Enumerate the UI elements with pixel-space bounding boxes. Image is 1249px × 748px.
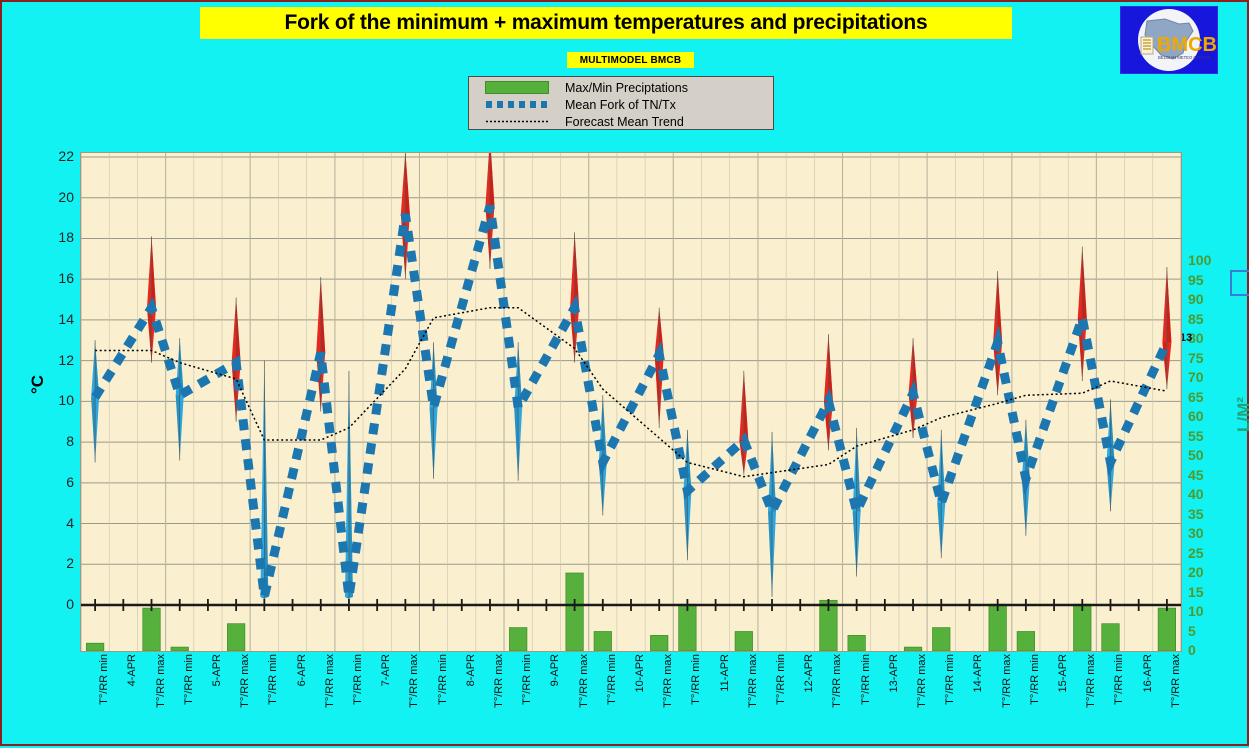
legend-key-bar-icon xyxy=(469,81,565,94)
y-axis-right-tick: 50 xyxy=(1188,447,1204,463)
y-axis-right-tick: 5 xyxy=(1188,623,1196,639)
y-axis-left-tick: 0 xyxy=(66,596,74,612)
chart-resize-handle[interactable] xyxy=(1230,270,1249,296)
x-axis-tick-label: T°/RR max xyxy=(662,654,674,708)
x-axis-day-label: 15-APR xyxy=(1057,654,1069,693)
y-axis-right-title: L/M² xyxy=(1234,397,1249,432)
x-axis-tick-label: T°/RR min xyxy=(1113,654,1125,705)
legend-item-forecast-trend[interactable]: Forecast Mean Trend xyxy=(469,113,773,130)
y-axis-right-tick: 40 xyxy=(1188,486,1204,502)
x-axis-tick-label: T°/RR max xyxy=(578,654,590,708)
x-axis-day-label: 16-APR xyxy=(1142,654,1154,693)
y-axis-right-tick: 25 xyxy=(1188,545,1204,561)
legend-label-mean-fork: Mean Fork of TN/Tx xyxy=(565,98,676,112)
bmcb-logo: BMCB BELGIAN METEO CENTER xyxy=(1120,6,1218,74)
logo-text: BMCB xyxy=(1157,34,1217,56)
x-axis-labels: T°/RR min4-APRT°/RR maxT°/RR min5-APRT°/… xyxy=(80,654,1182,748)
y-axis-right-tick: 65 xyxy=(1188,389,1204,405)
page-title-text: Fork of the minimum + maximum temperatur… xyxy=(284,11,927,35)
x-axis-tick-label: T°/RR max xyxy=(831,654,843,708)
x-axis-tick-label: T°/RR min xyxy=(860,654,872,705)
y-axis-left-tick: 16 xyxy=(58,270,74,286)
x-axis-day-label: 11-APR xyxy=(719,654,731,692)
x-axis-day-label: 13-APR xyxy=(888,654,900,693)
x-axis-tick-label: T°/RR min xyxy=(98,654,110,705)
logo-tagline: BELGIAN METEO CENTER xyxy=(1158,55,1211,60)
x-axis-day-label: 10-APR xyxy=(634,654,646,693)
x-axis-day-label: 14-APR xyxy=(972,654,984,693)
x-axis-tick-label: T°/RR max xyxy=(1001,654,1013,708)
legend-label-precipitations: Max/Min Preciptations xyxy=(565,81,688,95)
y-axis-left-tick: 4 xyxy=(66,515,74,531)
y-axis-right-tick: 95 xyxy=(1188,272,1204,288)
x-axis-tick-label: T°/RR max xyxy=(324,654,336,708)
chart-series-layer xyxy=(81,153,1181,651)
y-axis-left-tick: 6 xyxy=(66,474,74,490)
x-axis-tick-label: T°/RR max xyxy=(239,654,251,708)
x-axis-day-label: 7-APR xyxy=(380,654,392,686)
chart-subtitle-text: MULTIMODEL BMCB xyxy=(580,55,682,66)
x-axis-day-label: 6-APR xyxy=(296,654,308,686)
x-axis-tick-label: T°/RR min xyxy=(267,654,279,705)
x-axis-tick-label: T°/RR max xyxy=(1085,654,1097,708)
legend-label-forecast-trend: Forecast Mean Trend xyxy=(565,115,684,129)
y-axis-right-tick: 100 xyxy=(1188,252,1211,268)
y-axis-left: 0246810121416182022 xyxy=(22,152,74,652)
x-axis-day-label: 12-APR xyxy=(803,654,815,693)
y-axis-right-tick: 70 xyxy=(1188,369,1204,385)
chart-subtitle: MULTIMODEL BMCB xyxy=(567,52,694,68)
page-title: Fork of the minimum + maximum temperatur… xyxy=(200,7,1012,39)
x-axis-tick-label: T°/RR min xyxy=(521,654,533,705)
y-axis-right-tick: 85 xyxy=(1188,311,1204,327)
x-axis-day-label: 8-APR xyxy=(465,654,477,686)
x-axis-tick-label: T°/RR min xyxy=(606,654,618,705)
x-axis-tick-label: T°/RR min xyxy=(437,654,449,705)
y-axis-right-tick: 75 xyxy=(1188,350,1204,366)
x-axis-tick-label: T°/RR max xyxy=(1170,654,1182,708)
legend-item-mean-fork[interactable]: Mean Fork of TN/Tx xyxy=(469,96,773,113)
chart-plot-area[interactable] xyxy=(80,152,1182,652)
y-axis-right: 0510152025303540455055606570758085909510… xyxy=(1188,152,1228,652)
x-axis-tick-label: T°/RR min xyxy=(1029,654,1041,705)
y-axis-left-tick: 14 xyxy=(58,311,74,327)
x-axis-day-label: 4-APR xyxy=(126,654,138,686)
y-axis-right-tick: 55 xyxy=(1188,428,1204,444)
y-axis-left-tick: 20 xyxy=(58,189,74,205)
y-axis-right-tick: 35 xyxy=(1188,506,1204,522)
y-axis-right-tick: 15 xyxy=(1188,584,1204,600)
y-axis-left-tick: 12 xyxy=(58,352,74,368)
x-axis-tick-label: T°/RR min xyxy=(183,654,195,705)
y-axis-right-tick: 10 xyxy=(1188,603,1204,619)
y-axis-left-tick: 18 xyxy=(58,229,74,245)
y-axis-left-tick: 10 xyxy=(58,392,74,408)
legend-item-precipitations[interactable]: Max/Min Preciptations xyxy=(469,79,773,96)
y-axis-left-tick: 8 xyxy=(66,433,74,449)
chart-legend[interactable]: Max/Min Preciptations Mean Fork of TN/Tx… xyxy=(468,76,774,130)
y-axis-right-tick: 20 xyxy=(1188,564,1204,580)
x-axis-tick-label: T°/RR min xyxy=(775,654,787,705)
y-axis-right-tick: 45 xyxy=(1188,467,1204,483)
x-axis-tick-label: T°/RR max xyxy=(155,654,167,708)
x-axis-tick-label: T°/RR max xyxy=(747,654,759,708)
y-axis-right-tick: 60 xyxy=(1188,408,1204,424)
y-axis-left-title: °C xyxy=(28,375,48,394)
y-axis-right-tick: 30 xyxy=(1188,525,1204,541)
y-axis-right-tick: 90 xyxy=(1188,291,1204,307)
x-axis-tick-label: T°/RR min xyxy=(352,654,364,705)
x-axis-day-label: 9-APR xyxy=(549,654,561,686)
bmcb-logo-graphic: BMCB BELGIAN METEO CENTER xyxy=(1121,7,1217,73)
x-axis-day-label: 5-APR xyxy=(211,654,223,686)
legend-key-dashed-icon xyxy=(469,98,565,111)
y-axis-right-tick: 0 xyxy=(1188,642,1196,658)
logo-book-icon xyxy=(1141,37,1153,54)
x-axis-tick-label: T°/RR max xyxy=(916,654,928,708)
y-axis-left-tick: 22 xyxy=(58,148,74,164)
legend-key-dotted-icon xyxy=(469,115,565,128)
y-axis-left-tick: 2 xyxy=(66,555,74,571)
x-axis-tick-label: T°/RR min xyxy=(944,654,956,705)
x-axis-tick-label: T°/RR max xyxy=(493,654,505,708)
x-axis-tick-label: T°/RR min xyxy=(690,654,702,705)
x-axis-tick-label: T°/RR max xyxy=(408,654,420,708)
